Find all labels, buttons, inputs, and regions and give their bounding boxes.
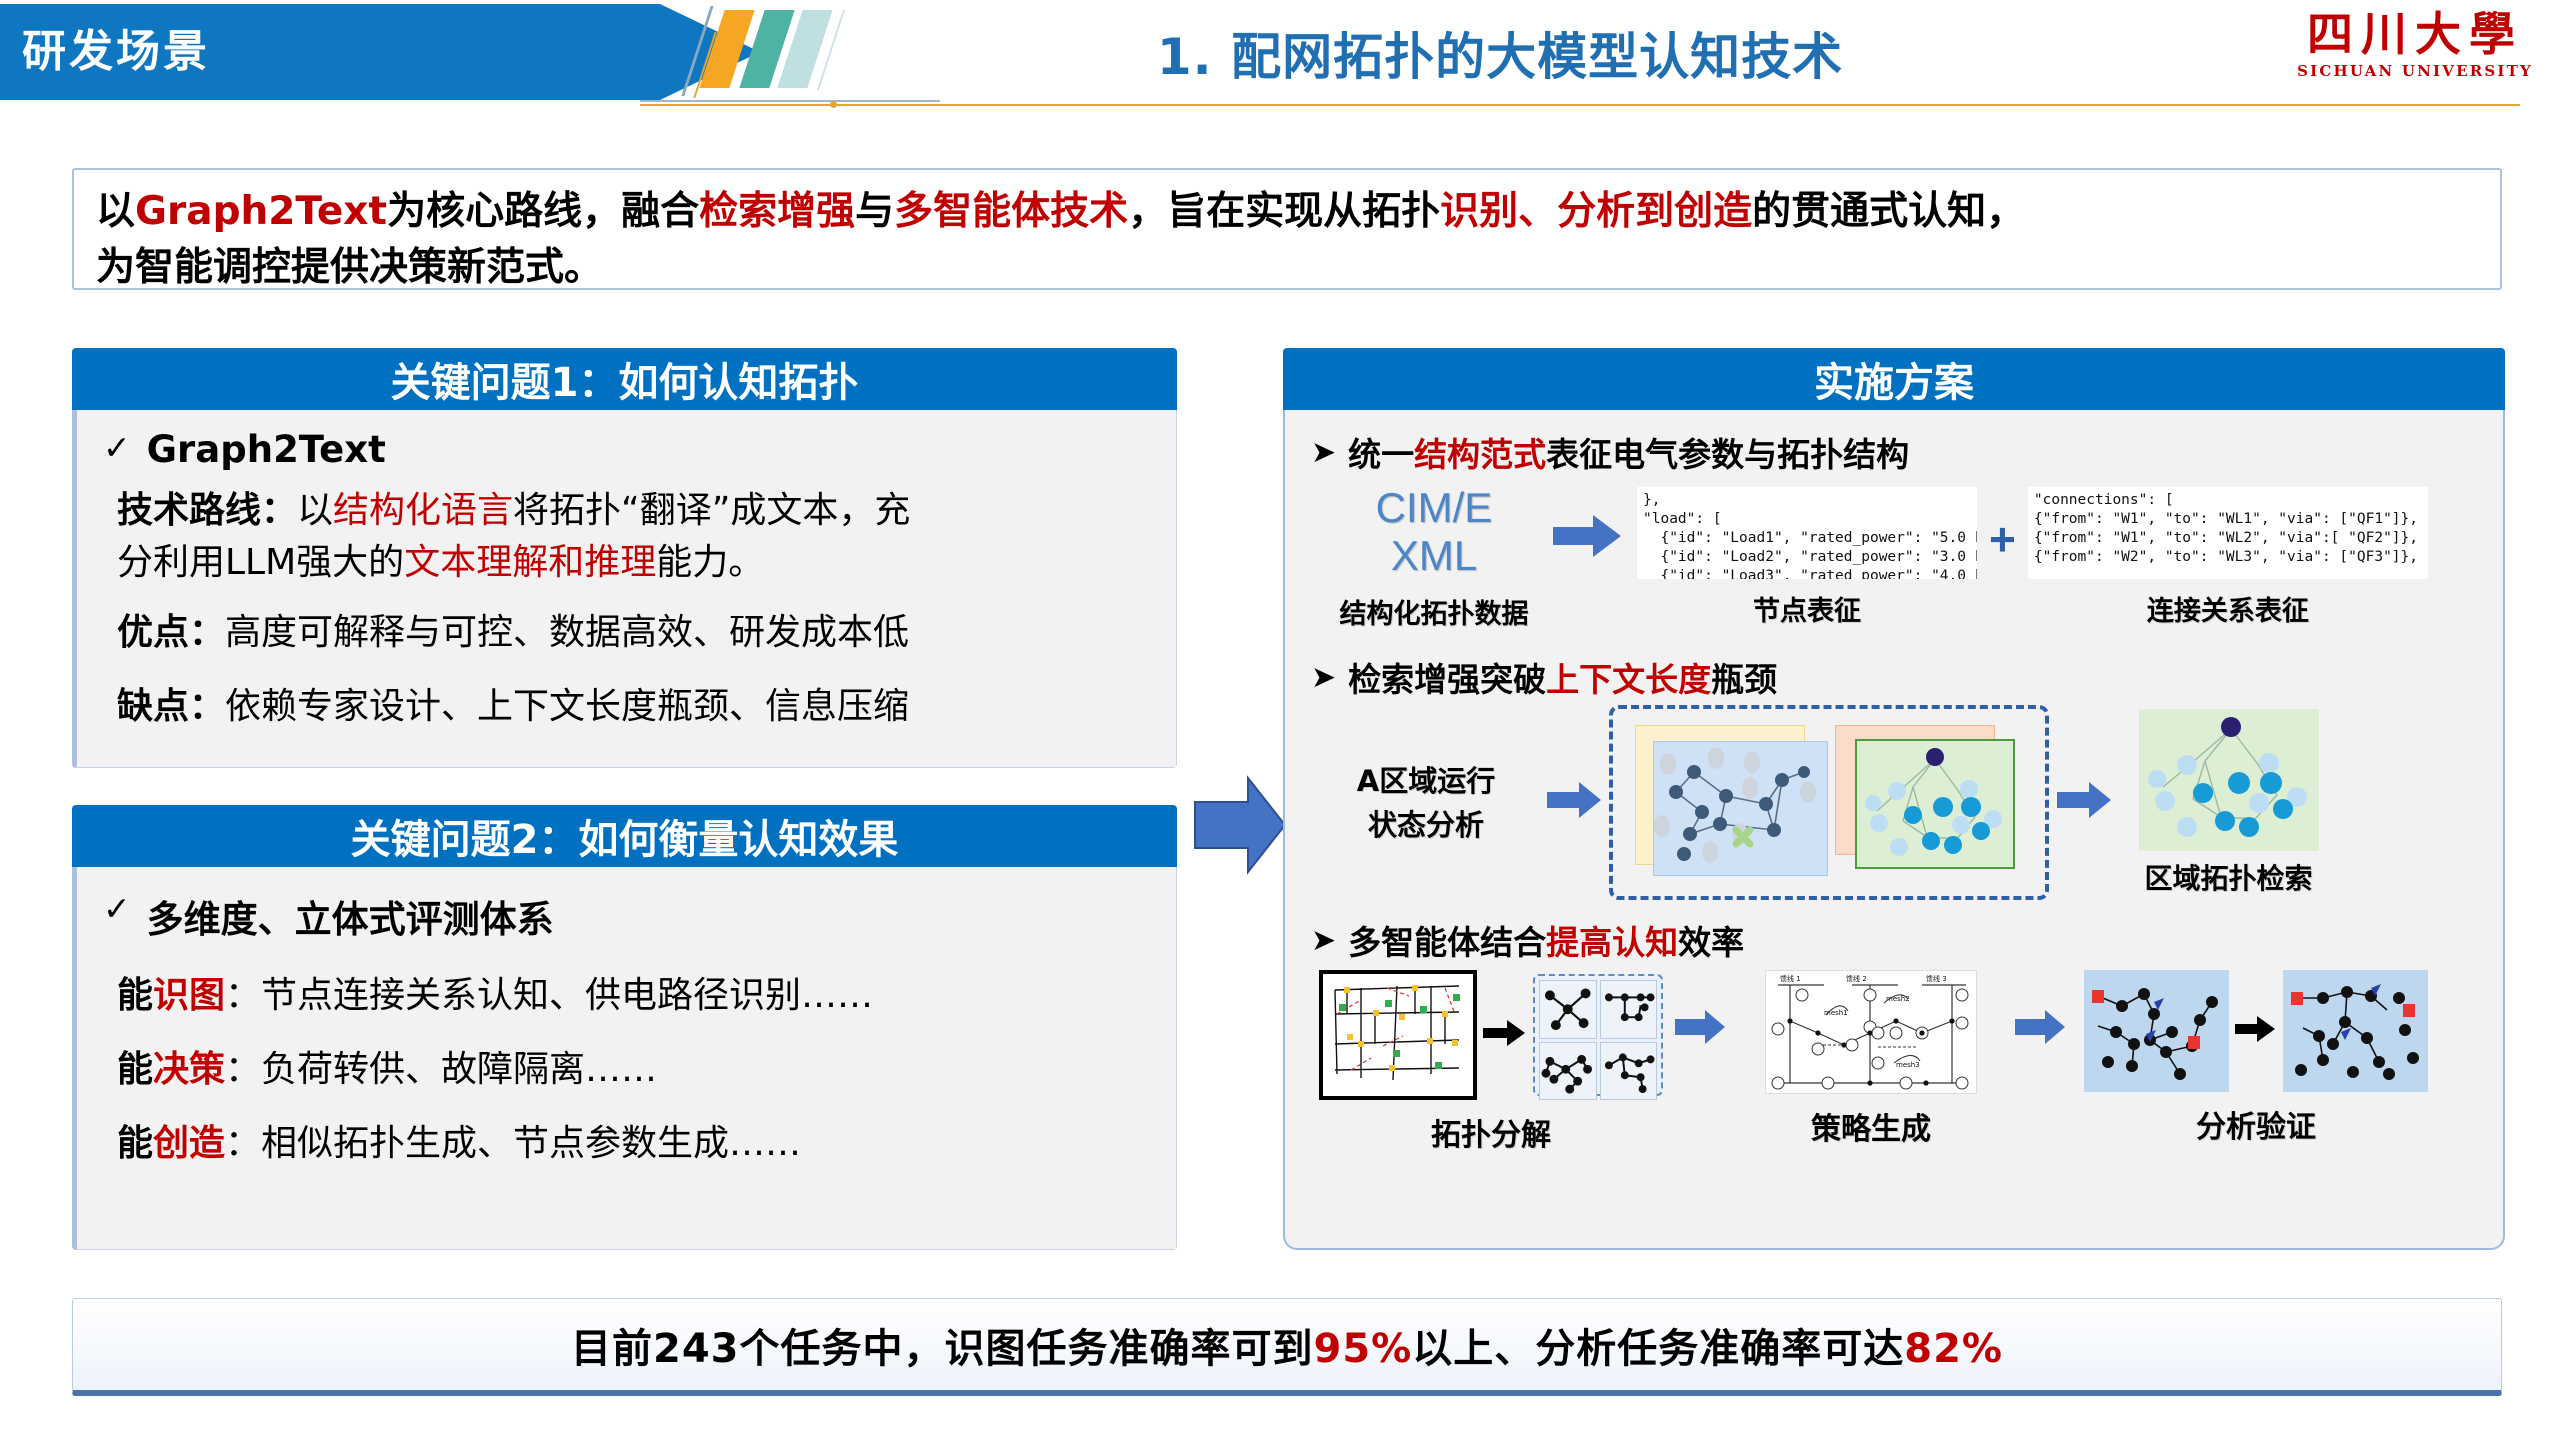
q2-post-1: ：负荷转供、故障隔离…… [225, 1049, 657, 1090]
q1-b-0: 将拓扑“翻译”成文本，充 [513, 490, 910, 531]
arrowhead-icon: ➤ [1311, 435, 1336, 470]
results-banner: 目前243个任务中，识图任务准确率可到95%以上、分析任务准确率可达82% [72, 1298, 2502, 1396]
scene-tag: 研发场景 [22, 22, 582, 82]
node-caption: 节点表征 [1637, 589, 1977, 628]
s2-title-a: 检索增强突破 [1348, 660, 1546, 699]
feeder-2-label: 馈线 2 [1846, 974, 1867, 983]
implementation-body: ➤ 统一结构范式表征电气参数与拓扑结构 CIM/E XML 结构化拓扑数据 },… [1283, 410, 2505, 1250]
impl-section1-diagram: CIM/E XML 结构化拓扑数据 }, "load": [ {"id": "L… [1319, 484, 2487, 631]
s1-title-hl: 结构范式 [1414, 435, 1546, 474]
decomposed-subgraphs [1533, 974, 1663, 1096]
q2-row-decide: 能决策：负荷转供、故障隔离…… [117, 1045, 1150, 1095]
full-topology-image [1319, 970, 1477, 1100]
q1-row-cons: 缺点：依赖专家设计、上下文长度瓶颈、信息压缩 [117, 681, 1150, 733]
arrow-before-to-after [2235, 1014, 2277, 1049]
verification-before-image [2084, 970, 2229, 1092]
results-accuracy-82: 82% [1904, 1326, 2003, 1372]
q2-row-create: 能创造：相似拓扑生成、节点参数生成…… [117, 1119, 1150, 1169]
mesh2-label: mesh2 [1886, 995, 1910, 1003]
q2-post-2: ：相似拓扑生成、节点参数生成…… [225, 1123, 801, 1164]
plus-icon: + [1989, 516, 2016, 562]
s1-title-b: 表征电气参数与拓扑结构 [1546, 435, 1909, 474]
check-icon: ✓ [103, 428, 131, 468]
q2-pre-1: 能 [117, 1049, 153, 1090]
impl-section3-diagram: 拓扑分解 [1311, 970, 2487, 1154]
swoosh-dot [830, 101, 837, 108]
retrieved-topology-card [2139, 709, 2319, 851]
q1-a-1: 分利用LLM强大的 [117, 542, 404, 583]
key-question-1-panel: 关键问题1：如何认知拓扑 ✓ Graph2Text 技术路线：以结构化语言将拓扑… [72, 348, 1177, 768]
verification-after-image [2283, 970, 2428, 1092]
q1-hl-0: 结构化语言 [333, 490, 513, 531]
summary-seg-1: 以 [96, 189, 135, 234]
graph-card-green-selected [1855, 739, 2015, 869]
arrow-analysis-to-corpus [1547, 780, 1603, 825]
implementation-panel: 实施方案 ➤ 统一结构范式表征电气参数与拓扑结构 CIM/E XML 结构化拓扑… [1283, 348, 2505, 1250]
cim-label-line1: CIM/E [1319, 484, 1549, 532]
s2-title-hl: 上下文长度 [1546, 660, 1711, 699]
topology-corpus-box [1609, 705, 2049, 900]
summary-seg-4: ，旨在实现从拓扑 [1128, 189, 1440, 234]
cim-label-line2: XML [1319, 532, 1549, 580]
q1-a-2: 高度可解释与可控、数据高效、研发成本低 [225, 612, 909, 653]
feeder-3-label: 馈线 3 [1926, 974, 1947, 983]
summary-cognition-chain: 识别、分析到创造 [1440, 189, 1752, 234]
q1-row-tech-route: 技术路线：以结构化语言将拓扑“翻译”成文本，充 [117, 485, 1150, 537]
region-analysis-label-2: 状态分析 [1311, 803, 1541, 847]
arrow-cim-to-node [1553, 513, 1623, 564]
q1-a-0: 以 [297, 490, 333, 531]
arrow-decompose [1483, 1018, 1527, 1053]
arrowhead-icon: ➤ [1311, 923, 1336, 958]
s3-title-hl: 提高认知 [1546, 923, 1678, 962]
subgraph-4 [1600, 1042, 1658, 1101]
connections-json-snippet: "connections": [ {"from": "W1", "to": "W… [2028, 487, 2428, 579]
arrow-corpus-to-result [2057, 780, 2113, 825]
s1-title-a: 统一 [1348, 435, 1414, 474]
key-question-1-body: ✓ Graph2Text 技术路线：以结构化语言将拓扑“翻译”成文本，充 分利用… [72, 410, 1177, 768]
page-title: 1. 配网拓扑的大模型认知技术 [760, 14, 2240, 92]
q1-row-pros: 优点：高度可解释与可控、数据高效、研发成本低 [117, 607, 1150, 659]
mesh1-label: mesh1 [1824, 1009, 1848, 1017]
q1-lead-3: 缺点： [117, 686, 225, 727]
arrow-strategy-to-verify [2015, 1008, 2067, 1051]
s3-title-a: 多智能体结合 [1348, 923, 1546, 962]
results-text: 目前243个任务中，识图任务准确率可到95%以上、分析任务准确率可达82% [571, 1316, 2003, 1374]
caption-topology-decomposition: 拓扑分解 [1311, 1110, 1671, 1154]
q1-b-1: 能力。 [656, 542, 764, 583]
summary-retrieval: 检索增强 [699, 189, 855, 234]
summary-seg-2: 为核心路线，融合 [387, 189, 699, 234]
page-header: 研发场景 1. 配网拓扑的大模型认知技术 四川大學 SICHUAN UNIVER… [0, 0, 2560, 118]
check-icon: ✓ [103, 889, 131, 929]
s2-title-b: 瓶颈 [1711, 660, 1777, 699]
q1-bullet-graph2text: ✓ Graph2Text [103, 428, 1150, 471]
connections-caption: 连接关系表征 [2028, 589, 2428, 628]
retrieval-caption: 区域拓扑检索 [2121, 857, 2336, 897]
q1-bullet-label: Graph2Text [147, 428, 386, 471]
q2-bullet-eval-system: ✓ 多维度、立体式评测体系 [103, 889, 1150, 943]
implementation-header: 实施方案 [1283, 348, 2505, 410]
logo-english-name: SICHUAN UNIVERSITY [2290, 62, 2540, 80]
summary-seg-3: 与 [855, 189, 894, 234]
results-seg-a: 目前243个任务中，识图任务准确率可到 [571, 1326, 1314, 1372]
q2-bullet-label: 多维度、立体式评测体系 [147, 889, 554, 943]
subgraph-2 [1600, 980, 1658, 1039]
graph-card-blue [1653, 741, 1828, 876]
caption-strategy-generation: 策略生成 [1731, 1104, 2011, 1148]
cim-caption: 结构化拓扑数据 [1319, 592, 1549, 631]
q2-hl-1: 决策 [153, 1049, 225, 1090]
summary-graph2text: Graph2Text [135, 189, 387, 234]
summary-callout: 以Graph2Text为核心路线，融合检索增强与多智能体技术，旨在实现从拓扑识别… [72, 168, 2502, 290]
summary-line-2: 为智能调控提供决策新范式。 [96, 240, 2478, 296]
mesh3-label: mesh3 [1896, 1061, 1920, 1069]
summary-seg-5: 的贯通式认知， [1752, 189, 2025, 234]
summary-line-1: 以Graph2Text为核心路线，融合检索增强与多智能体技术，旨在实现从拓扑识别… [96, 184, 2478, 240]
q2-pre-0: 能 [117, 975, 153, 1016]
header-swoosh [640, 96, 2520, 116]
s3-title-b: 效率 [1678, 923, 1744, 962]
subgraph-3 [1539, 1042, 1597, 1101]
key-question-1-header: 关键问题1：如何认知拓扑 [72, 348, 1177, 410]
impl-section3-title: ➤ 多智能体结合提高认知效率 [1311, 916, 2487, 964]
university-logo: 四川大學 SICHUAN UNIVERSITY [2290, 6, 2540, 106]
impl-section1-title: ➤ 统一结构范式表征电气参数与拓扑结构 [1311, 428, 2487, 476]
swoosh-line-gold [640, 104, 2520, 106]
key-question-2-header: 关键问题2：如何衡量认知效果 [72, 805, 1177, 867]
q2-row-recognize: 能识图：节点连接关系认知、供电路径识别…… [117, 971, 1150, 1021]
flow-arrow-left-to-right [1190, 770, 1290, 880]
q1-hl-1: 文本理解和推理 [404, 542, 656, 583]
impl-section2-title: ➤ 检索增强突破上下文长度瓶颈 [1311, 653, 2487, 701]
q2-post-0: ：节点连接关系认知、供电路径识别…… [225, 975, 873, 1016]
arrowhead-icon: ➤ [1311, 660, 1336, 695]
q1-a-3: 依赖专家设计、上下文长度瓶颈、信息压缩 [225, 686, 909, 727]
results-accuracy-95: 95% [1314, 1326, 1413, 1372]
q1-lead-2: 优点： [117, 612, 225, 653]
key-question-2-body: ✓ 多维度、立体式评测体系 能识图：节点连接关系认知、供电路径识别…… 能决策：… [72, 867, 1177, 1250]
results-seg-b: 以上、分析任务准确率可达 [1412, 1326, 1904, 1372]
logo-chinese-name: 四川大學 [2290, 6, 2540, 62]
q1-row-tech-route-cont: 分利用LLM强大的文本理解和推理能力。 [117, 537, 1150, 589]
swoosh-line-blue [640, 100, 940, 102]
caption-analysis-verification: 分析验证 [2071, 1102, 2441, 1146]
impl-section2-diagram: A区域运行 状态分析 [1311, 705, 2487, 900]
subgraph-1 [1539, 980, 1597, 1039]
region-analysis-label-1: A区域运行 [1311, 759, 1541, 803]
arrow-decompose-to-strategy [1675, 1008, 1727, 1051]
q2-hl-2: 创造 [153, 1123, 225, 1164]
q1-lead-0: 技术路线： [117, 490, 297, 531]
feeder-1-label: 馈线 1 [1780, 974, 1801, 983]
node-json-snippet: }, "load": [ {"id": "Load1", "rated_powe… [1637, 487, 1977, 579]
q2-hl-0: 识图 [153, 975, 225, 1016]
strategy-generation-image: 馈线 1 馈线 2 馈线 3 mesh1 mesh2 mesh3 [1765, 970, 1977, 1094]
key-question-2-panel: 关键问题2：如何衡量认知效果 ✓ 多维度、立体式评测体系 能识图：节点连接关系认… [72, 805, 1177, 1250]
q2-pre-2: 能 [117, 1123, 153, 1164]
summary-multiagent: 多智能体技术 [894, 189, 1128, 234]
